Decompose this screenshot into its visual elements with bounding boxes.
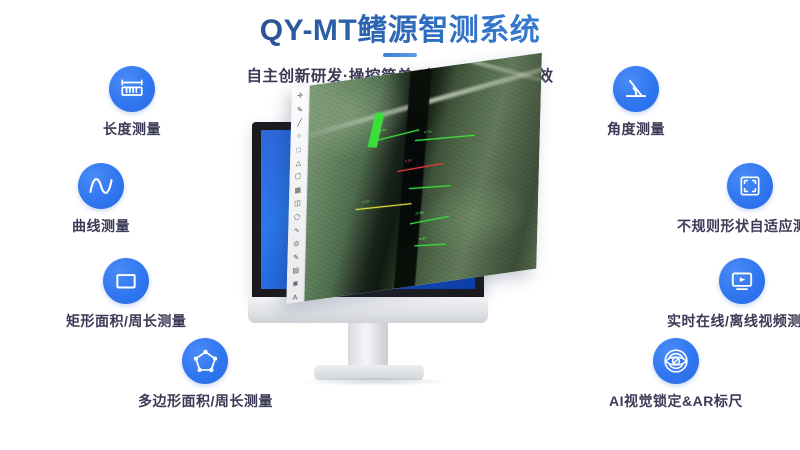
title-divider (383, 53, 417, 57)
shapes-icon[interactable]: ◫ (292, 198, 302, 209)
grid-icon[interactable]: ▦ (293, 185, 303, 196)
eraser-icon[interactable]: ✎ (291, 252, 301, 263)
measurement-value: 9.8m (419, 237, 426, 241)
eye-target-lock-icon[interactable] (653, 338, 699, 384)
circle-icon[interactable]: ○ (294, 131, 304, 142)
feature-label: 长度测量 (103, 119, 161, 139)
feature-label: 矩形面积/周长测量 (66, 311, 186, 331)
crop-brackets-icon[interactable] (727, 163, 773, 209)
ruler-icon[interactable] (109, 66, 155, 112)
pen-icon[interactable]: ✎ (295, 105, 305, 116)
text-icon[interactable]: A (290, 292, 300, 303)
feature-label: 不规则形状自适应测量 (677, 216, 800, 236)
line-icon[interactable]: ╱ (294, 118, 304, 129)
feature-ai-vision-lock[interactable]: AI视觉锁定&AR标尺 (609, 338, 743, 411)
feature-length-measurement[interactable]: 长度测量 (103, 66, 161, 139)
target-icon[interactable]: ◎ (291, 238, 301, 249)
video-play-icon[interactable] (719, 258, 765, 304)
feature-video-measurement[interactable]: 实时在线/离线视频测量 (667, 258, 800, 331)
measurement-value: 12.4m (378, 128, 387, 132)
feature-polygon-measurement[interactable]: 多边形面积/周长测量 (138, 338, 273, 411)
measurement-value: 3.1m (362, 200, 369, 204)
rectangle-icon[interactable]: □ (294, 145, 304, 156)
layers-icon[interactable]: ▤ (291, 265, 301, 276)
angle-icon[interactable] (613, 66, 659, 112)
feature-curve-measurement[interactable]: 曲线测量 (72, 163, 130, 236)
feature-label: 曲线测量 (72, 216, 130, 236)
polygon-icon[interactable] (182, 338, 228, 384)
feature-adaptive-shape-measurement[interactable]: 不规则形状自适应测量 (677, 163, 800, 236)
terrain-crack (393, 56, 433, 301)
monitor-shadow (300, 377, 450, 386)
feature-label: AI视觉锁定&AR标尺 (609, 391, 743, 411)
feature-label: 角度测量 (607, 119, 665, 139)
feature-rectangle-measurement[interactable]: 矩形面积/周长测量 (66, 258, 186, 331)
monitor-chin (248, 297, 488, 323)
measurement-app-window[interactable]: ✛ ✎ ╱ ○ □ △ ▢ ▦ ◫ ⬠ ∿ ◎ ✎ ▤ ◙ A (286, 53, 542, 304)
wave-curve-icon[interactable] (78, 163, 124, 209)
poster-stage: QY-MT鳍源智测系统 自主创新研发·操控简单·功能完善·稳定高效 ✛ ✎ ╱ … (0, 0, 800, 450)
shape-icon[interactable]: ▢ (293, 172, 303, 183)
triangle-icon[interactable]: △ (293, 158, 303, 169)
measurement-line (414, 244, 446, 247)
page-title: QY-MT鳍源智测系统 (0, 0, 800, 47)
settings-icon[interactable]: ◙ (290, 279, 300, 290)
aerial-photo-canvas[interactable]: 12.4m 8.7m 5.2m 3.1m 21.6m 9.8m (304, 53, 542, 302)
feature-label: 多边形面积/周长测量 (138, 391, 273, 411)
cursor-icon[interactable]: ✛ (295, 91, 305, 102)
feature-angle-measurement[interactable]: 角度测量 (607, 66, 665, 139)
curve-icon[interactable]: ∿ (292, 225, 302, 236)
monitor-stand-neck (348, 323, 388, 367)
measurement-value: 21.6m (415, 211, 424, 215)
pentagon-icon[interactable]: ⬠ (292, 212, 302, 223)
measurement-value: 8.7m (424, 131, 431, 135)
rectangle-icon[interactable] (103, 258, 149, 304)
feature-label: 实时在线/离线视频测量 (667, 311, 800, 331)
